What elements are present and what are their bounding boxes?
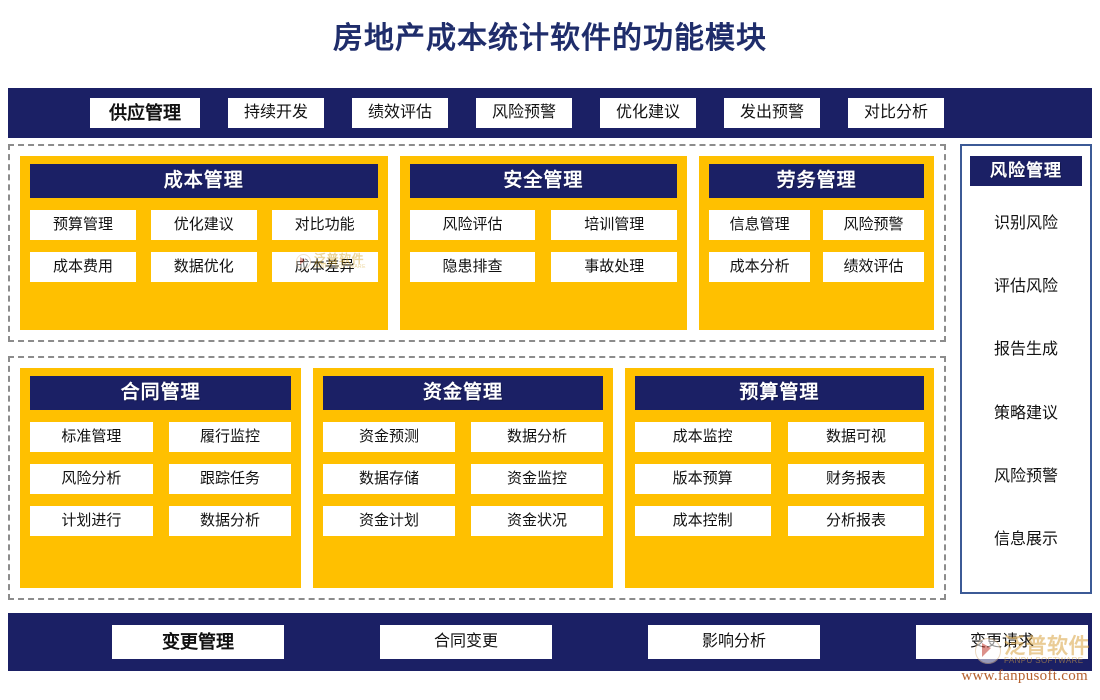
risk-panel-list: 识别风险 评估风险 报告生成 策略建议 风险预警 信息展示 [970, 186, 1082, 582]
bottom-nav-item-0[interactable]: 合同变更 [380, 625, 552, 659]
page-title: 房地产成本统计软件的功能模块 [0, 0, 1100, 60]
module-chip[interactable]: 绩效评估 [823, 252, 924, 282]
module-chip[interactable]: 版本预算 [635, 464, 771, 494]
module-title-safety-management: 安全管理 [410, 164, 678, 198]
module-chip[interactable]: 预算管理 [30, 210, 136, 240]
module-group-top: 成本管理 预算管理 优化建议 对比功能 成本费用 数据优化 成本差异 安全管理 … [8, 144, 946, 342]
module-chip[interactable]: 标准管理 [30, 422, 153, 452]
module-chip[interactable]: 优化建议 [151, 210, 257, 240]
module-title-labor-management: 劳务管理 [709, 164, 924, 198]
top-nav-item-4[interactable]: 发出预警 [724, 98, 820, 128]
bottom-nav-item-1[interactable]: 影响分析 [648, 625, 820, 659]
top-nav-item-2[interactable]: 风险预警 [476, 98, 572, 128]
module-title-budget-management: 预算管理 [635, 376, 924, 410]
module-chip[interactable]: 成本费用 [30, 252, 136, 282]
top-nav-item-1[interactable]: 绩效评估 [352, 98, 448, 128]
risk-management-panel: 风险管理 识别风险 评估风险 报告生成 策略建议 风险预警 信息展示 [960, 144, 1092, 594]
module-chip[interactable]: 对比功能 [272, 210, 378, 240]
module-chip[interactable]: 成本分析 [709, 252, 810, 282]
top-navigation-bar: 供应管理 持续开发 绩效评估 风险预警 优化建议 发出预警 对比分析 [8, 88, 1092, 138]
module-chip[interactable]: 事故处理 [551, 252, 677, 282]
module-card-budget-management[interactable]: 预算管理 成本监控 数据可视 版本预算 财务报表 成本控制 分析报表 [625, 368, 934, 588]
module-chip[interactable]: 资金计划 [323, 506, 454, 536]
top-nav-item-5[interactable]: 对比分析 [848, 98, 944, 128]
module-chip[interactable]: 隐患排查 [410, 252, 536, 282]
module-chip[interactable]: 分析报表 [788, 506, 924, 536]
risk-panel-title: 风险管理 [970, 156, 1082, 186]
module-chip[interactable]: 信息管理 [709, 210, 810, 240]
module-card-cost-management[interactable]: 成本管理 预算管理 优化建议 对比功能 成本费用 数据优化 成本差异 [20, 156, 388, 330]
module-title-cost-management: 成本管理 [30, 164, 378, 198]
module-chip[interactable]: 财务报表 [788, 464, 924, 494]
bottom-nav-item-primary[interactable]: 变更管理 [112, 625, 284, 659]
module-chip[interactable]: 履行监控 [169, 422, 292, 452]
module-chip[interactable]: 资金预测 [323, 422, 454, 452]
module-chip[interactable]: 风险分析 [30, 464, 153, 494]
module-chip[interactable]: 资金监控 [471, 464, 602, 494]
module-chip[interactable]: 培训管理 [551, 210, 677, 240]
module-chip[interactable]: 风险预警 [823, 210, 924, 240]
module-chip[interactable]: 数据分析 [169, 506, 292, 536]
bottom-nav-item-2[interactable]: 变更请求 [916, 625, 1088, 659]
risk-panel-item-2[interactable]: 报告生成 [970, 339, 1082, 361]
module-chip[interactable]: 计划进行 [30, 506, 153, 536]
module-chip[interactable]: 成本差异 [272, 252, 378, 282]
module-chip[interactable]: 数据优化 [151, 252, 257, 282]
module-card-funds-management[interactable]: 资金管理 资金预测 数据分析 数据存储 资金监控 资金计划 资金状况 [313, 368, 612, 588]
module-chip[interactable]: 数据分析 [471, 422, 602, 452]
module-chip[interactable]: 成本控制 [635, 506, 771, 536]
module-column: 成本管理 预算管理 优化建议 对比功能 成本费用 数据优化 成本差异 安全管理 … [8, 144, 946, 600]
module-group-bottom: 合同管理 标准管理 履行监控 风险分析 跟踪任务 计划进行 数据分析 资金管理 … [8, 356, 946, 600]
module-title-contract-management: 合同管理 [30, 376, 291, 410]
risk-panel-item-1[interactable]: 评估风险 [970, 276, 1082, 298]
module-chip[interactable]: 数据可视 [788, 422, 924, 452]
module-card-contract-management[interactable]: 合同管理 标准管理 履行监控 风险分析 跟踪任务 计划进行 数据分析 [20, 368, 301, 588]
risk-panel-item-5[interactable]: 信息展示 [970, 529, 1082, 551]
top-nav-item-primary[interactable]: 供应管理 [90, 98, 200, 128]
bottom-navigation-bar: 变更管理 合同变更 影响分析 变更请求 [8, 613, 1092, 671]
module-chip[interactable]: 风险评估 [410, 210, 536, 240]
module-chip[interactable]: 数据存储 [323, 464, 454, 494]
module-chip[interactable]: 跟踪任务 [169, 464, 292, 494]
module-chip[interactable]: 资金状况 [471, 506, 602, 536]
main-content-area: 成本管理 预算管理 优化建议 对比功能 成本费用 数据优化 成本差异 安全管理 … [8, 144, 1092, 600]
risk-panel-item-4[interactable]: 风险预警 [970, 466, 1082, 488]
top-nav-item-0[interactable]: 持续开发 [228, 98, 324, 128]
top-nav-item-3[interactable]: 优化建议 [600, 98, 696, 128]
risk-panel-item-0[interactable]: 识别风险 [970, 213, 1082, 235]
module-chip[interactable]: 成本监控 [635, 422, 771, 452]
module-card-labor-management[interactable]: 劳务管理 信息管理 风险预警 成本分析 绩效评估 [699, 156, 934, 330]
module-title-funds-management: 资金管理 [323, 376, 602, 410]
risk-panel-item-3[interactable]: 策略建议 [970, 403, 1082, 425]
module-card-safety-management[interactable]: 安全管理 风险评估 培训管理 隐患排查 事故处理 [400, 156, 688, 330]
